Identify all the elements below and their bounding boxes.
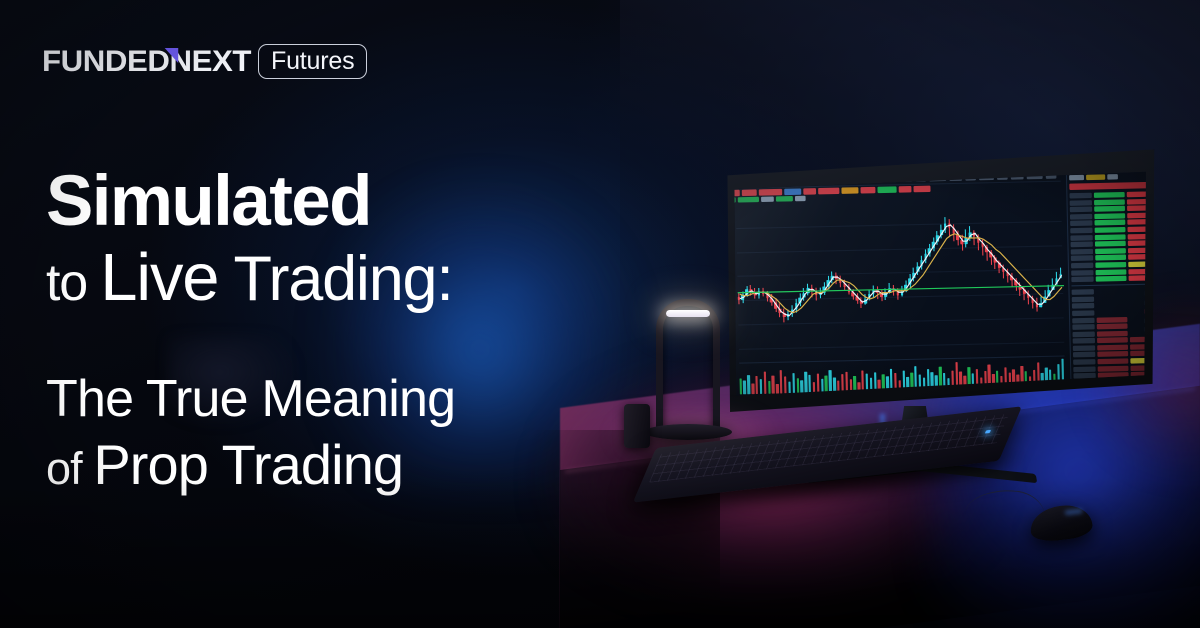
order-book-price [1069,193,1092,199]
order-book-price [1072,324,1095,330]
volume-bar [804,371,807,392]
order-book-price [1070,228,1093,234]
headline-block-primary: Simulated to Live Trading: [46,166,686,313]
headline-to: to [46,254,100,312]
ask-cell[interactable] [1127,233,1148,239]
promo-banner: FUNDEDNEXT Futures Simulated to Live Tra… [0,0,1200,628]
bid-cell[interactable] [1098,365,1128,371]
ask-cell[interactable] [1127,212,1148,218]
headline-live: Live [100,240,218,315]
order-book-labels [1071,289,1096,386]
bid-cell[interactable] [1097,337,1127,343]
order-book-rows [1069,191,1148,282]
order-book-price [1073,352,1096,358]
candlestick-chart [735,203,1065,361]
bid-cell[interactable] [1096,296,1126,302]
order-book-rows [1071,288,1148,386]
volume-bar [841,374,844,393]
order-book-price [1073,359,1096,365]
brand-wordmark: FUNDEDNEXT [42,45,251,79]
bid-cell[interactable] [1094,199,1124,205]
headline-line-meaning: The True Meaning [46,373,686,426]
ask-cell[interactable] [1128,254,1148,260]
ask-cell[interactable] [1127,240,1148,246]
bid-cell[interactable] [1095,248,1125,254]
bid-cell[interactable] [1097,351,1127,357]
order-book-price [1071,289,1094,295]
volume-bar [890,369,893,391]
headline-line-prop: of Prop Trading [46,436,686,493]
volume-bar [760,379,763,394]
bid-column [1094,192,1126,282]
order-book-price [1072,317,1095,323]
volume-bar [784,377,787,394]
order-book-price [1071,296,1094,302]
ask-cell[interactable] [1127,247,1148,253]
bid-cell[interactable] [1097,317,1127,323]
order-book-label [1107,174,1118,180]
order-book-price [1069,207,1092,213]
headline-prop-trading: Prop Trading [93,433,403,496]
volume-bar [780,370,783,393]
volume-bar [833,378,836,393]
trading-terminal [732,170,1148,398]
volume-bar [853,376,856,392]
volume-bar [821,379,824,393]
headline-block-secondary: The True Meaning of Prop Trading [46,373,686,493]
order-book-label [1069,175,1084,181]
bid-cell[interactable] [1098,358,1128,364]
volume-bar [837,381,840,393]
symbol-tag[interactable] [803,188,816,195]
volume-bar [776,384,779,394]
bid-cell[interactable] [1096,289,1126,295]
volume-bar [796,378,799,393]
volume-bar [813,382,816,393]
volume-bar [788,382,791,394]
brand-logo: FUNDEDNEXT Futures [46,44,367,79]
order-book-price [1070,256,1093,262]
ask-cell[interactable] [1126,198,1148,204]
bid-cell[interactable] [1095,227,1125,233]
volume-bar [817,373,820,393]
headline-trading: Trading: [218,244,452,314]
volume-bar [755,376,758,394]
volume-bar [747,375,750,395]
order-book-price [1072,338,1095,344]
order-book-panel [1065,170,1148,389]
bid-cell[interactable] [1097,323,1127,329]
volume-bar [772,375,775,394]
symbol-tag[interactable] [818,188,839,195]
ask-cell[interactable] [1128,275,1148,281]
volume-bar [800,380,803,393]
order-book-alert-bar [1069,182,1148,190]
bid-column [1096,289,1128,386]
mouse-highlight [1065,508,1083,515]
bid-cell[interactable] [1095,234,1125,240]
headline-line-live: to Live Trading: [46,244,686,312]
volume-bar [845,372,848,393]
bid-cell[interactable] [1094,206,1124,212]
order-book-price [1072,331,1095,337]
order-book-price [1070,221,1093,227]
headline-of: of [46,443,93,494]
volume-bar [866,374,869,392]
ask-cell[interactable] [1128,261,1148,267]
headline-group: Simulated to Live Trading: The True Mean… [46,166,686,493]
ma-line [738,222,1062,316]
order-book-price [1070,235,1093,241]
moving-average-overlay [735,203,1065,361]
bid-cell[interactable] [1097,344,1127,350]
order-book-price [1070,249,1093,255]
order-book-price [1071,270,1094,276]
volume-bar [829,370,832,392]
bid-cell[interactable] [1096,269,1126,275]
symbol-tag[interactable] [841,187,858,194]
order-book-divider [1071,284,1148,287]
order-book-price [1072,310,1095,316]
symbol-tag[interactable] [899,186,912,193]
order-book-price [1071,277,1094,283]
ask-cell[interactable] [1126,191,1148,197]
monitor-screen [732,170,1148,398]
volume-bar [825,376,828,393]
ask-cell[interactable] [1127,219,1148,225]
ultrawide-monitor [724,148,1156,416]
bid-cell[interactable] [1095,262,1125,268]
ask-cell[interactable] [1127,205,1148,211]
order-book-price [1073,366,1096,372]
symbol-tag[interactable] [742,189,757,196]
ask-column [1126,191,1148,281]
bid-cell[interactable] [1095,255,1125,261]
ask-cell[interactable] [1127,226,1148,232]
symbol-tag[interactable] [784,188,801,195]
headline-line-simulated: Simulated [46,166,686,238]
symbol-tag[interactable] [860,187,875,194]
indicator-tag [776,196,793,202]
volume-bar [768,381,771,394]
order-book-price [1070,214,1093,220]
volume-bar [861,370,864,391]
order-book-price [1072,303,1095,309]
bid-cell[interactable] [1094,213,1124,219]
order-book-price [1071,263,1094,269]
order-book-label [1086,174,1105,180]
volume-bar [739,379,742,395]
symbol-tag[interactable] [913,186,930,193]
futures-badge: Futures [258,44,367,79]
order-book-price [1072,345,1095,351]
bid-cell[interactable] [1095,220,1125,226]
order-book-labels [1069,193,1094,283]
ma-line [738,232,1062,314]
brand-wordmark-text: FUNDEDNEXT [42,45,251,78]
symbol-tag[interactable] [759,189,782,196]
volume-bar [751,383,754,394]
volume-bar [808,375,811,393]
bid-cell[interactable] [1096,276,1126,282]
ask-cell[interactable] [1128,268,1148,274]
volume-bar [763,372,766,394]
bid-cell[interactable] [1096,303,1126,309]
indicator-tag [738,197,759,203]
bid-cell[interactable] [1097,330,1127,336]
indicator-tag [795,196,806,202]
volume-bar [792,373,795,394]
volume-bar [743,381,746,395]
indicator-tag [761,196,774,202]
bid-cell[interactable] [1096,310,1126,316]
bid-cell[interactable] [1094,192,1124,198]
symbol-tag[interactable] [877,186,896,193]
order-book-price [1070,242,1093,248]
volume-bar [874,372,877,392]
bid-cell[interactable] [1095,241,1125,247]
order-book-price [1069,200,1092,206]
